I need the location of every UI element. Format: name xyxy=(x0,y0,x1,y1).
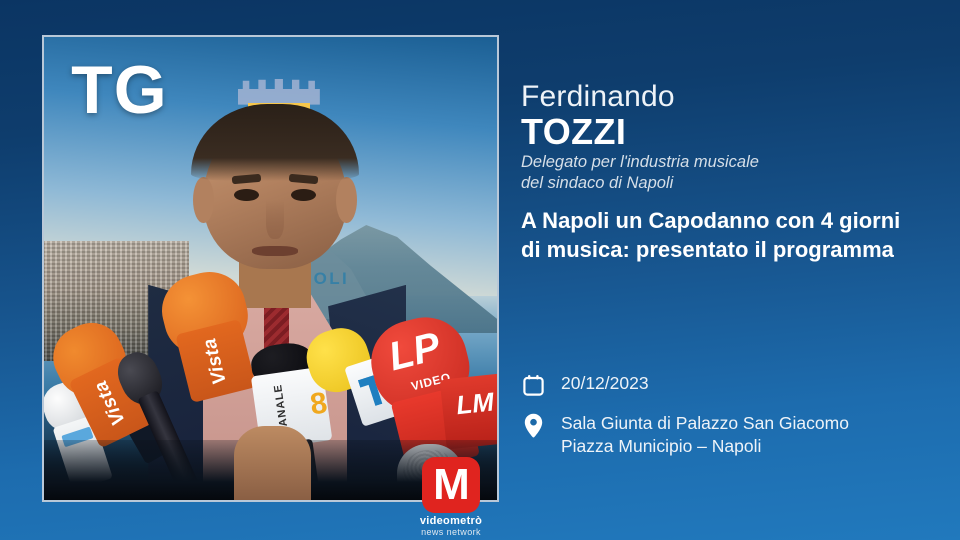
speaker-role: Delegato per l'industria musicale del si… xyxy=(521,152,759,194)
ear-left xyxy=(193,177,213,223)
news-headline-line2: di musica: presentato il programma xyxy=(521,235,900,264)
hair xyxy=(191,104,359,181)
mic-label-vista-2: Vista xyxy=(199,335,232,386)
mouth xyxy=(252,246,297,256)
event-location-line2: Piazza Municipio – Napoli xyxy=(561,435,849,458)
news-headline: A Napoli un Capodanno con 4 giorni di mu… xyxy=(521,206,900,264)
event-date-row: 20/12/2023 xyxy=(521,372,849,398)
ear-right xyxy=(336,177,356,223)
eye-right xyxy=(291,189,316,201)
nose xyxy=(266,200,284,238)
videometro-letter: M xyxy=(433,463,469,507)
news-headline-line1: A Napoli un Capodanno con 4 giorni xyxy=(521,206,900,235)
lower-third-graphic: NAPOLI xyxy=(0,0,960,540)
tg-channel-logo: TG xyxy=(71,56,167,124)
mic-label-lm: LM xyxy=(454,386,495,421)
crown-icon xyxy=(238,79,320,105)
hand xyxy=(234,426,311,500)
speaker-role-line2: del sindaco di Napoli xyxy=(521,173,759,194)
photo-image: NAPOLI xyxy=(44,37,497,500)
videometro-mark-icon: M xyxy=(422,457,480,513)
speaker-photo-card: NAPOLI xyxy=(42,35,499,502)
event-location: Sala Giunta di Palazzo San Giacomo Piazz… xyxy=(561,412,849,458)
speaker-last-name: TOZZI xyxy=(521,111,626,153)
event-metadata: 20/12/2023 Sala Giunta di Palazzo San Gi… xyxy=(521,372,849,472)
microphone-red-right: LM xyxy=(439,370,497,449)
event-date: 20/12/2023 xyxy=(561,372,649,395)
eye-left xyxy=(234,189,259,201)
event-location-line1: Sala Giunta di Palazzo San Giacomo xyxy=(561,412,849,435)
info-panel: Ferdinando TOZZI Delegato per l'industri… xyxy=(521,0,941,540)
event-location-row: Sala Giunta di Palazzo San Giacomo Piazz… xyxy=(521,412,849,458)
calendar-icon xyxy=(521,372,545,398)
location-pin-icon xyxy=(521,412,545,438)
videometro-name: videometrò xyxy=(406,516,496,528)
speaker-first-name: Ferdinando xyxy=(521,80,675,114)
videometro-tagline: news network xyxy=(406,528,496,538)
speaker-role-line1: Delegato per l'industria musicale xyxy=(521,152,759,173)
videometro-logo: M videometrò news network xyxy=(406,457,496,537)
